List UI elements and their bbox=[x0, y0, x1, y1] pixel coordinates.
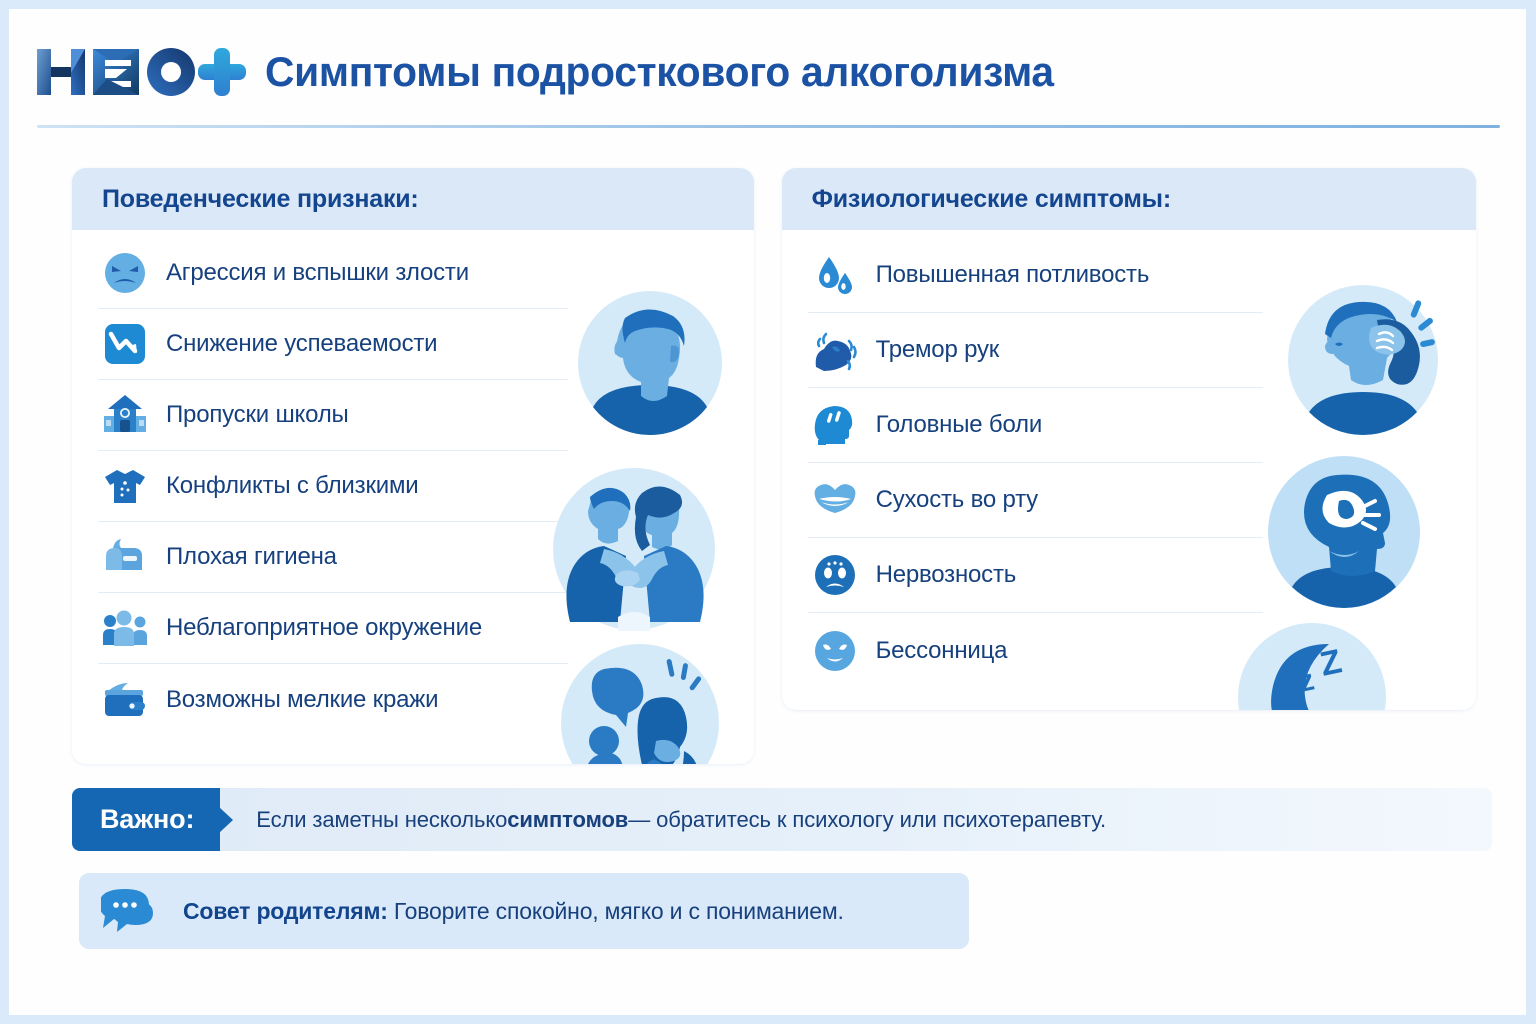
behavioral-list: Агрессия и вспышки злости Снижение успев… bbox=[98, 238, 568, 735]
tshirt-icon bbox=[98, 459, 152, 513]
teen-portrait-illustration bbox=[577, 290, 724, 437]
conversation-illustration bbox=[560, 643, 720, 764]
list-item[interactable]: Бессонница bbox=[808, 613, 1263, 688]
card-physiological-header: Физиологические симптомы: bbox=[782, 168, 1476, 230]
tip-banner: Совет родителям: Говорите спокойно, мягк… bbox=[79, 873, 969, 949]
lips-icon bbox=[808, 473, 862, 527]
card-behavioral-body: Агрессия и вспышки злости Снижение успев… bbox=[72, 230, 754, 764]
important-badge: Важно: bbox=[72, 788, 220, 851]
poster-canvas: Симптомы подросткового алкоголизма Повед… bbox=[9, 9, 1526, 1015]
list-item-label: Тремор рук bbox=[876, 336, 999, 364]
list-item[interactable]: Агрессия и вспышки злости bbox=[98, 238, 568, 309]
head-pain-icon bbox=[808, 398, 862, 452]
list-item-label: Плохая гигиена bbox=[166, 543, 337, 571]
list-item[interactable]: Конфликты с близкими bbox=[98, 451, 568, 522]
list-item[interactable]: Неблагоприятное окружение bbox=[98, 593, 568, 664]
important-text-after: — обратитесь к психологу или психотерапе… bbox=[628, 807, 1106, 833]
list-item-label: Неблагоприятное окружение bbox=[166, 614, 482, 642]
list-item[interactable]: Снижение успеваемости bbox=[98, 309, 568, 380]
list-item-label: Головные боли bbox=[876, 411, 1042, 439]
important-text: Если заметны несколько симптомов — обрат… bbox=[220, 788, 1106, 851]
brain-head-illustration bbox=[1267, 455, 1422, 610]
physiological-list: Повышенная потливость bbox=[808, 238, 1263, 688]
sleepless-face-icon bbox=[808, 624, 862, 678]
moon-sleep-illustration: z Z bbox=[1237, 622, 1387, 710]
arguing-couple-illustration bbox=[552, 467, 717, 632]
list-item-label: Пропуски школы bbox=[166, 401, 349, 429]
tip-body-label: Говорите спокойно, мягко и с пониманием. bbox=[388, 898, 844, 924]
list-item[interactable]: Плохая гигиена bbox=[98, 522, 568, 593]
speech-bubbles-icon bbox=[101, 886, 167, 936]
declining-chart-icon bbox=[98, 317, 152, 371]
important-banner: Важно: Если заметны несколько симптомов … bbox=[72, 788, 1492, 851]
important-text-bold: симптомов bbox=[507, 807, 628, 833]
page-title: Симптомы подросткового алкоголизма bbox=[265, 51, 1054, 93]
list-item-label: Сухость во рту bbox=[876, 486, 1038, 514]
infographic-poster: Симптомы подросткового алкоголизма Повед… bbox=[0, 0, 1536, 1024]
card-behavioral: Поведенческие признаки: Агрессия и вспыш… bbox=[72, 168, 754, 764]
card-physiological-body: Повышенная потливость bbox=[782, 230, 1476, 710]
school-building-icon bbox=[98, 388, 152, 442]
card-behavioral-header: Поведенческие признаки: bbox=[72, 168, 754, 230]
worried-face-icon bbox=[808, 548, 862, 602]
card-physiological: Физиологические симптомы: bbox=[782, 168, 1476, 710]
poster-header: Симптомы подросткового алкоголизма bbox=[35, 31, 1500, 113]
header-divider bbox=[37, 125, 1500, 128]
list-item-label: Агрессия и вспышки злости bbox=[166, 259, 469, 287]
shaking-hand-icon bbox=[808, 323, 862, 377]
list-item-label: Возможны мелкие кражи bbox=[166, 686, 438, 714]
wallet-icon bbox=[98, 673, 152, 727]
list-item[interactable]: Нервозность bbox=[808, 538, 1263, 613]
list-item[interactable]: Повышенная потливость bbox=[808, 238, 1263, 313]
list-item-label: Конфликты с близкими bbox=[166, 472, 418, 500]
list-item-label: Повышенная потливость bbox=[876, 261, 1150, 289]
list-item-label: Нервозность bbox=[876, 561, 1017, 589]
group-people-icon bbox=[98, 601, 152, 655]
tip-text: Совет родителям: Говорите спокойно, мягк… bbox=[183, 898, 844, 925]
list-item[interactable]: Пропуски школы bbox=[98, 380, 568, 451]
tip-strong-label: Совет родителям: bbox=[183, 898, 388, 924]
list-item[interactable]: Возможны мелкие кражи bbox=[98, 664, 568, 735]
list-item[interactable]: Головные боли bbox=[808, 388, 1263, 463]
cards-container: Поведенческие признаки: Агрессия и вспыш… bbox=[72, 168, 1476, 764]
angry-face-icon bbox=[98, 246, 152, 300]
headache-person-illustration bbox=[1287, 284, 1440, 437]
sweat-drops-icon bbox=[808, 248, 862, 302]
card-behavioral-title: Поведенческие признаки: bbox=[102, 185, 419, 214]
list-item[interactable]: Тремор рук bbox=[808, 313, 1263, 388]
soap-icon bbox=[98, 530, 152, 584]
neo-plus-logo-icon bbox=[35, 43, 249, 101]
list-item-label: Снижение успеваемости bbox=[166, 330, 437, 358]
list-item-label: Бессонница bbox=[876, 637, 1008, 665]
card-physiological-title: Физиологические симптомы: bbox=[812, 185, 1171, 214]
list-item[interactable]: Сухость во рту bbox=[808, 463, 1263, 538]
important-text-before: Если заметны несколько bbox=[256, 807, 507, 833]
